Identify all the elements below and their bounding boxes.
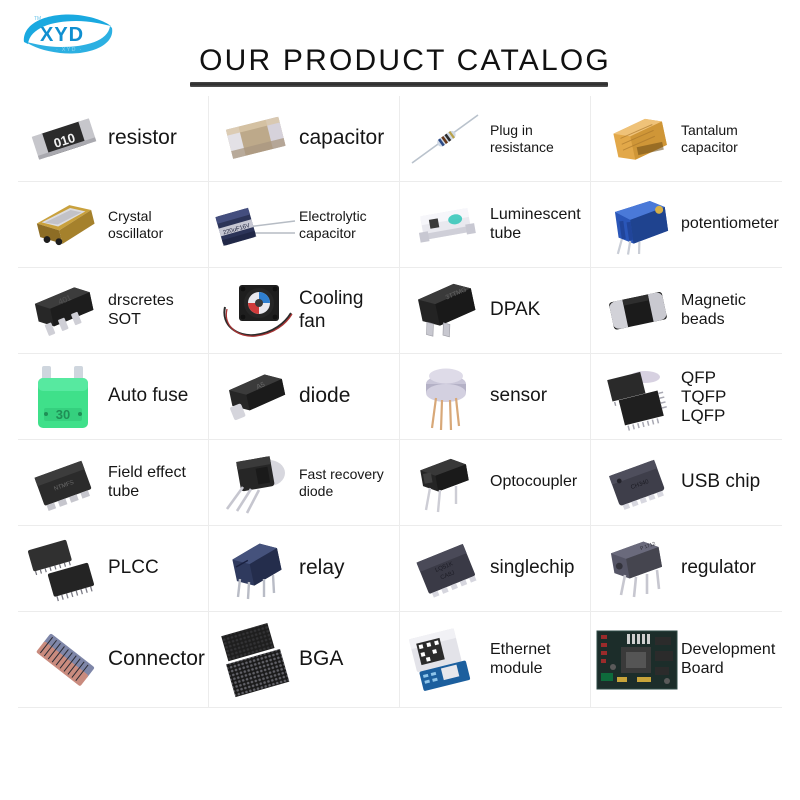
product-label: Tantalum capacitor	[679, 122, 778, 155]
product-cell[interactable]: Crystal oscillator	[18, 182, 209, 268]
product-cell[interactable]: relay	[209, 526, 400, 612]
dip-regulator-icon: P 1712	[595, 531, 679, 607]
product-cell[interactable]: NTMFS Field effect tube	[18, 440, 209, 526]
product-label: Electrolytic capacitor	[297, 208, 395, 241]
blade-fuse-icon: 30	[22, 359, 106, 435]
product-cell[interactable]: Ethernet module	[400, 612, 591, 708]
product-label: Plug in resistance	[488, 122, 586, 155]
product-cell[interactable]: Tantalum capacitor	[591, 96, 782, 182]
brand-logo: XYD TM · XYD ·	[16, 8, 122, 60]
bga-package-icon	[213, 622, 297, 698]
mosfet-icon: NTMFS	[22, 445, 106, 521]
logo-tm-text: TM	[34, 16, 41, 22]
dpak-package-icon: 3TTMG	[404, 273, 488, 349]
page-title: OUR PRODUCT CATALOG	[190, 44, 620, 78]
smd-resistor-icon: 010	[22, 101, 106, 177]
magnetic-bead-icon	[595, 273, 679, 349]
product-label: resistor	[106, 126, 204, 151]
to-can-sensor-icon	[404, 359, 488, 435]
usb-chip-icon: CH340	[595, 445, 679, 521]
product-cell[interactable]: capacitor	[209, 96, 400, 182]
page-header: XYD TM · XYD · OUR PRODUCT CATALOG	[0, 0, 800, 95]
product-label: Magnetic beads	[679, 292, 778, 330]
product-cell[interactable]: 010 resistor	[18, 96, 209, 182]
product-label: Field effect tube	[106, 464, 204, 502]
relay-icon	[213, 531, 297, 607]
development-board-icon	[595, 622, 679, 698]
title-block: OUR PRODUCT CATALOG	[190, 44, 620, 87]
product-cell[interactable]: BGA	[209, 612, 400, 708]
product-label: DPAK	[488, 299, 586, 321]
product-label: Connector	[106, 647, 205, 672]
smd-capacitor-icon	[213, 101, 297, 177]
product-cell[interactable]: A5 diode	[209, 354, 400, 440]
crystal-oscillator-icon	[22, 187, 106, 263]
product-label: capacitor	[297, 126, 395, 151]
product-cell[interactable]: Connector	[18, 612, 209, 708]
logo-text: XYD	[40, 24, 84, 46]
product-label: BGA	[297, 647, 395, 672]
product-cell[interactable]: Optocoupler	[400, 440, 591, 526]
mcu-qfn-icon: LQ51K CA8J	[404, 531, 488, 607]
product-cell[interactable]: Plug in resistance	[400, 96, 591, 182]
product-label: relay	[297, 556, 395, 581]
product-label: Development Board	[679, 641, 778, 679]
product-label: Optocoupler	[488, 473, 586, 492]
product-cell[interactable]: CH340 USB chip	[591, 440, 782, 526]
product-label: sensor	[488, 385, 586, 407]
product-label: Luminescent tube	[488, 206, 586, 244]
product-cell[interactable]: LQ51K CA8J singlechip	[400, 526, 591, 612]
sot-package-icon: 401	[22, 273, 106, 349]
optocoupler-icon	[404, 445, 488, 521]
tantalum-capacitor-icon	[595, 101, 679, 177]
electrolytic-cap-icon: 220uF16V	[213, 187, 297, 263]
logo-sub-text: · XYD ·	[56, 47, 82, 53]
product-label: Crystal oscillator	[106, 208, 204, 241]
product-label: Cooling fan	[297, 288, 395, 333]
product-label: QFPTQFPLQFP	[679, 368, 778, 425]
to220-diode-icon	[213, 445, 297, 521]
plcc-package-icon	[22, 531, 106, 607]
product-label: diode	[297, 384, 395, 409]
product-cell[interactable]: 30 Auto fuse	[18, 354, 209, 440]
product-cell[interactable]: 3TTMG DPAK	[400, 268, 591, 354]
product-label: Ethernet module	[488, 641, 586, 679]
ethernet-module-icon	[404, 622, 488, 698]
product-cell[interactable]: Fast recovery diode	[209, 440, 400, 526]
product-grid: 010 resistor capacitor Plug in resistanc…	[18, 96, 782, 708]
axial-resistor-icon	[404, 101, 488, 177]
svg-text:30: 30	[56, 407, 70, 422]
product-cell[interactable]: potentiometer	[591, 182, 782, 268]
potentiometer-icon	[595, 187, 679, 263]
product-label: Auto fuse	[106, 385, 204, 407]
product-cell[interactable]: Luminescent tube	[400, 182, 591, 268]
qfp-package-icon	[595, 359, 679, 435]
product-label: drscretes SOT	[106, 292, 204, 330]
product-label: PLCC	[106, 557, 204, 579]
product-cell[interactable]: 220uF16V Electrolytic capacitor	[209, 182, 400, 268]
cooling-fan-icon	[213, 273, 297, 349]
product-cell[interactable]: Magnetic beads	[591, 268, 782, 354]
product-cell[interactable]: QFPTQFPLQFP	[591, 354, 782, 440]
product-cell[interactable]: PLCC	[18, 526, 209, 612]
product-cell[interactable]: 401 drscretes SOT	[18, 268, 209, 354]
board-connector-icon	[22, 622, 106, 698]
product-label: USB chip	[679, 471, 778, 493]
product-label: potentiometer	[679, 215, 779, 234]
product-label: Fast recovery diode	[297, 466, 395, 499]
product-cell[interactable]: sensor	[400, 354, 591, 440]
product-cell[interactable]: Development Board	[591, 612, 782, 708]
title-underline	[190, 82, 608, 87]
product-cell[interactable]: Cooling fan	[209, 268, 400, 354]
led-tube-icon	[404, 187, 488, 263]
product-label: singlechip	[488, 557, 586, 579]
smd-diode-icon: A5	[213, 359, 297, 435]
product-label: regulator	[679, 557, 778, 579]
catalog-page: XYD TM · XYD · OUR PRODUCT CATALOG 010 r…	[0, 0, 800, 800]
product-cell[interactable]: P 1712 regulator	[591, 526, 782, 612]
